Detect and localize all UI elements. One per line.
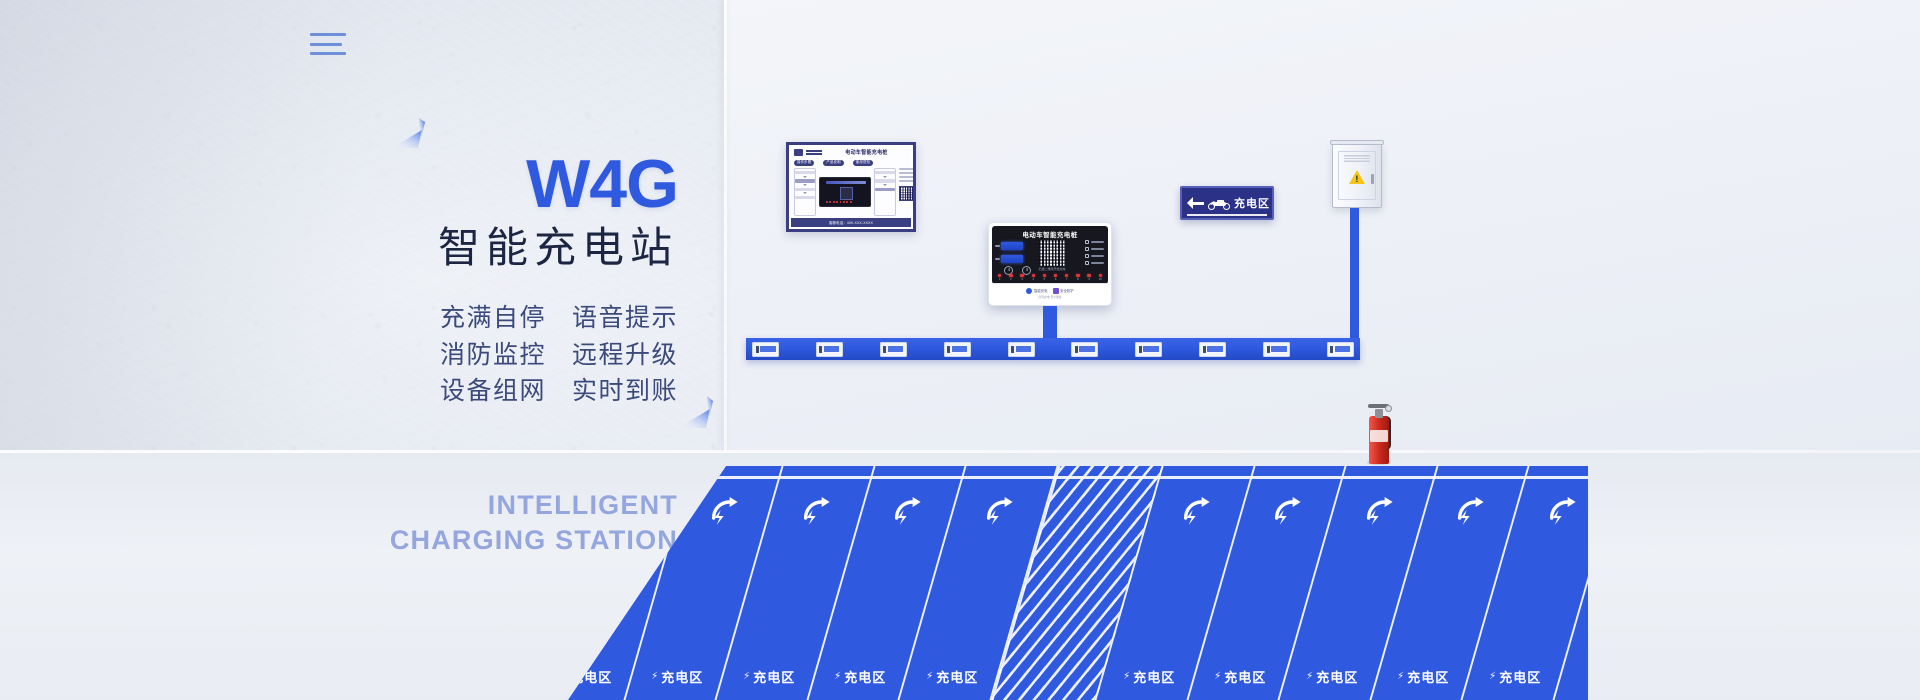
parking-bay-text: 充电区 — [1498, 667, 1540, 686]
page-subtitle: 智能充电站 — [300, 224, 678, 271]
extinguisher-neck — [1375, 409, 1383, 418]
wall-corner-seam — [724, 0, 727, 452]
wall-socket[interactable] — [1199, 342, 1226, 357]
port-indicator: 7 — [1065, 274, 1068, 281]
page-title: W4G — [300, 150, 678, 218]
parking-bay-text: 充电区 — [1224, 667, 1266, 686]
charging-plug-icon — [891, 496, 925, 526]
lightning-bolt-icon: ⚡ — [560, 671, 568, 682]
port-number: 8 — [1077, 278, 1078, 281]
feature-item: 远程升级 — [572, 338, 678, 373]
pile-feature-text — [1091, 248, 1104, 250]
pile-feature-text — [1091, 255, 1104, 257]
scooter-icon — [1208, 197, 1230, 210]
parking-bay-label: ⚡充电区 — [834, 667, 886, 686]
parking-bay-text: 充电区 — [1315, 667, 1357, 686]
wall-socket[interactable] — [816, 342, 843, 357]
poster-logo-icon — [794, 149, 803, 156]
port-indicator: 8 — [1076, 274, 1079, 281]
chevron-down-icon — [883, 176, 887, 178]
feature-row: 设备组网 实时到账 — [440, 374, 678, 409]
poster-step — [795, 188, 815, 191]
pressure-gauge-icon — [1385, 405, 1392, 412]
pile-footer-note: 扫码充电 安全便捷 — [1038, 295, 1061, 299]
led — [1065, 274, 1068, 277]
brand-dot-icon — [1026, 288, 1032, 294]
parking-lot: ⚡充电区⚡充电区⚡充电区⚡充电区⚡充电区⚡充电区⚡充电区⚡充电区⚡充电区⚡充电区 — [0, 452, 1920, 700]
sign-label: 充电区 — [1234, 195, 1270, 211]
led — [998, 274, 1001, 277]
pile-front-panel: 电动车智能充电桩 扫描二维码开始充电 1 2 3 4 5 — [992, 226, 1108, 284]
port-number: 2 — [1010, 278, 1011, 281]
wall-socket[interactable] — [1008, 342, 1035, 357]
feature-item: 实时到账 — [572, 374, 678, 409]
socket-face — [1335, 346, 1351, 352]
parking-bay-text: 充电区 — [661, 667, 703, 686]
pile-brand-row: 智能充电 安全防护 — [1026, 288, 1073, 294]
parking-bay-label: ⚡充电区 — [560, 667, 612, 686]
parking-bay-label: ⚡充电区 — [651, 667, 703, 686]
poster-body — [791, 166, 911, 218]
left-arrow-icon — [1187, 197, 1204, 209]
phone-icon — [1085, 254, 1089, 258]
parking-bay-text: 充电区 — [844, 667, 886, 686]
brand-square-icon — [1053, 288, 1059, 294]
charging-plug-icon — [982, 496, 1016, 526]
charging-plug-icon — [1453, 496, 1487, 526]
lightning-bolt-icon: ⚡ — [926, 671, 934, 682]
parking-bay-label: ⚡充电区 — [1214, 667, 1266, 686]
socket-face — [888, 346, 904, 352]
socket-pin — [756, 346, 759, 353]
pile-display-label — [995, 245, 1000, 247]
sign-underline — [1187, 214, 1267, 216]
socket-pin — [1075, 346, 1078, 353]
socket-pin — [883, 346, 886, 353]
poster-footer-text: 客服电话：400-XXX-XXXX — [829, 220, 873, 225]
qr-code-icon — [899, 186, 914, 201]
poster-inner: 电动车智能充电桩 操作步骤 产品说明 使用须知 — [791, 147, 911, 227]
lightning-bolt-icon: ⚡ — [651, 671, 659, 682]
qr-code-icon[interactable] — [1039, 240, 1065, 266]
poster-header: 电动车智能充电桩 — [791, 147, 911, 158]
port-indicator: 5 — [1043, 274, 1046, 281]
led — [1087, 274, 1090, 277]
parking-bay-text: 充电区 — [1407, 667, 1449, 686]
lightning-bolt-icon: ⚡ — [743, 671, 751, 682]
socket-pin — [1011, 346, 1014, 353]
port-number: 9 — [1088, 278, 1089, 281]
charging-plug-icon — [616, 496, 650, 526]
pile-brand-secondary: 安全防护 — [1053, 288, 1074, 294]
parking-bay-text: 充电区 — [753, 667, 795, 686]
hamburger-bar-3 — [310, 52, 346, 55]
poster-text-line — [899, 180, 916, 182]
poster-brand-mark — [806, 150, 822, 155]
promo-banner: W4G 智能充电站 充满自停 语音提示 消防监控 远程升级 设备组网 实时到账 … — [0, 0, 1920, 700]
chevron-down-icon — [803, 184, 807, 186]
direction-sign: 充电区 — [1180, 186, 1274, 220]
parking-bay-label: ⚡充电区 — [743, 667, 795, 686]
lightning-bolt-icon: ⚡ — [1305, 671, 1313, 682]
poster-note — [875, 179, 895, 182]
poster-footer: 客服电话：400-XXX-XXXX — [791, 218, 911, 227]
high-voltage-warning-icon — [1349, 170, 1365, 184]
charging-plug-icon — [799, 496, 833, 526]
pile-feature-icon-row — [1085, 254, 1104, 258]
port-indicator: 3 — [1020, 274, 1023, 281]
poster-notes-column — [874, 168, 896, 216]
wall-poster: 电动车智能充电桩 操作步骤 产品说明 使用须知 — [786, 142, 916, 232]
socket-face — [1143, 346, 1159, 352]
port-indicator: 6 — [1054, 274, 1057, 281]
port-number: 7 — [1066, 278, 1067, 281]
port-number: 6 — [1055, 278, 1056, 281]
led — [1020, 274, 1023, 277]
hamburger-bar-2 — [310, 43, 342, 46]
feature-item: 语音提示 — [572, 301, 678, 336]
socket-face — [1207, 346, 1223, 352]
hero-text-block: W4G 智能充电站 充满自停 语音提示 消防监控 远程升级 设备组网 实时到账 — [300, 150, 720, 409]
port-indicator: 4 — [1032, 274, 1035, 281]
socket-pin — [1139, 346, 1142, 353]
port-number: 3 — [1021, 278, 1022, 281]
cabinet-handle[interactable] — [1371, 174, 1374, 184]
led — [1009, 274, 1012, 277]
pile-feature-text — [1091, 241, 1104, 243]
poster-step — [795, 196, 815, 199]
feature-list: 充满自停 语音提示 消防监控 远程升级 设备组网 实时到账 — [300, 301, 678, 409]
hamburger-menu-icon[interactable] — [310, 33, 346, 55]
feature-row: 充满自停 语音提示 — [440, 301, 678, 336]
feature-item: 消防监控 — [440, 338, 546, 373]
wall-socket[interactable] — [1263, 342, 1290, 357]
wall-socket[interactable] — [1071, 342, 1098, 357]
socket-face — [1016, 346, 1032, 352]
poster-note — [875, 171, 895, 174]
charging-pile-unit: 电动车智能充电桩 扫描二维码开始充电 1 2 3 4 5 — [988, 222, 1112, 306]
socket-face — [952, 346, 968, 352]
charging-plug-icon — [708, 496, 742, 526]
socket-pin — [1203, 346, 1206, 353]
brand-label: 安全防护 — [1060, 288, 1074, 293]
socket-face — [1271, 346, 1287, 352]
port-indicator: 9 — [1087, 274, 1090, 281]
poster-badge-row: 操作步骤 产品说明 使用须知 — [791, 158, 911, 166]
scooter-seat — [1217, 200, 1224, 202]
poster-title: 电动车智能充电桩 — [825, 149, 908, 157]
parking-bay-label: ⚡充电区 — [1305, 667, 1357, 686]
poster-device-screen — [840, 187, 853, 200]
led — [1032, 274, 1035, 277]
poster-qr-row — [899, 186, 916, 201]
port-number: 10 — [1099, 278, 1102, 281]
pile-feature-icon-row — [1085, 240, 1104, 244]
led — [1043, 274, 1046, 277]
parking-bay-label: ⚡充电区 — [1122, 667, 1174, 686]
wall-socket[interactable] — [1327, 342, 1354, 357]
parking-bay-text: 充电区 — [570, 667, 612, 686]
cabinet-top-cap — [1330, 140, 1384, 145]
led — [1054, 274, 1057, 277]
parking-bay-label: ⚡充电区 — [1397, 667, 1449, 686]
led — [840, 201, 842, 203]
chevron-down-icon — [803, 192, 807, 194]
feature-item: 设备组网 — [440, 374, 546, 409]
pile-feature-icon-row — [1085, 261, 1104, 265]
poster-device-illustration — [819, 168, 871, 216]
port-indicator: 10 — [1099, 274, 1102, 281]
socket-face — [760, 346, 776, 352]
pile-display-1 — [1001, 242, 1023, 250]
parking-bay-text: 充电区 — [936, 667, 978, 686]
port-number: 1 — [999, 278, 1000, 281]
socket-pin — [1330, 346, 1333, 353]
brand-label: 智能充电 — [1034, 288, 1048, 293]
pile-footer: 智能充电 安全防护 扫码充电 安全便捷 — [992, 283, 1108, 302]
extinguisher-hose — [1386, 416, 1391, 450]
chevron-down-icon — [803, 176, 807, 178]
lightning-bolt-icon: ⚡ — [1397, 671, 1405, 682]
charging-plug-icon — [1545, 496, 1579, 526]
socket-pin — [819, 346, 822, 353]
charging-plug-icon — [1270, 496, 1304, 526]
feature-item: 充满自停 — [440, 301, 546, 336]
wall-socket-rail — [746, 338, 1360, 360]
socket-pin — [947, 346, 950, 353]
poster-text-line — [899, 168, 916, 170]
led — [836, 201, 838, 203]
led — [826, 201, 828, 203]
poster-steps-column — [794, 168, 816, 216]
port-indicator: 1 — [998, 274, 1001, 281]
feature-row: 消防监控 远程升级 — [440, 338, 678, 373]
pile-display-2 — [1001, 255, 1023, 263]
led — [833, 201, 835, 203]
pile-title: 电动车智能充电桩 — [992, 229, 1108, 239]
lightning-bolt-icon: ⚡ — [1488, 671, 1496, 682]
parking-bay-label: ⚡充电区 — [1488, 667, 1540, 686]
pile-feature-text — [1091, 262, 1104, 264]
poster-info-column — [899, 168, 916, 216]
poster-text-line — [899, 176, 916, 178]
port-number: 5 — [1044, 278, 1045, 281]
poster-step — [795, 171, 815, 174]
electrical-cabinet — [1332, 143, 1382, 208]
hamburger-bar-1 — [310, 33, 346, 36]
wall-socket[interactable] — [1135, 342, 1162, 357]
led — [1099, 274, 1102, 277]
wall-socket[interactable] — [880, 342, 907, 357]
card-icon — [1085, 247, 1089, 251]
poster-device — [819, 177, 871, 207]
socket-face — [824, 346, 840, 352]
coin-icon — [1085, 240, 1089, 244]
poster-step — [795, 179, 815, 182]
shield-icon — [1085, 261, 1089, 265]
led — [1076, 274, 1079, 277]
led — [846, 201, 848, 203]
pile-port-indicators: 1 2 3 4 5 6 7 8 9 10 — [998, 274, 1102, 281]
pile-feature-icon-row — [1085, 247, 1104, 251]
poster-device-leds — [826, 201, 852, 203]
wall-socket[interactable] — [944, 342, 971, 357]
pile-brand-primary: 智能充电 — [1026, 288, 1047, 294]
poster-text-line — [899, 172, 916, 174]
chevron-down-icon — [883, 184, 887, 186]
socket-pin — [1267, 346, 1270, 353]
port-indicator: 2 — [1009, 274, 1012, 281]
led — [843, 201, 845, 203]
led — [829, 201, 831, 203]
lightning-bolt-icon: ⚡ — [1214, 671, 1222, 682]
lightning-bolt-icon: ⚡ — [1122, 671, 1130, 682]
lightning-bolt-icon: ⚡ — [834, 671, 842, 682]
charging-plug-icon — [1179, 496, 1213, 526]
poster-note — [875, 188, 895, 191]
socket-face — [1079, 346, 1095, 352]
led — [850, 201, 852, 203]
pile-icon-list — [1085, 240, 1104, 265]
pile-qr-caption: 扫描二维码开始充电 — [1037, 267, 1067, 271]
charging-plug-icon — [1362, 496, 1396, 526]
port-number: 4 — [1032, 278, 1033, 281]
parking-bay-text: 充电区 — [1133, 667, 1175, 686]
power-conduit-vertical — [1350, 208, 1359, 346]
pile-display-label — [995, 258, 1000, 260]
parking-bay-group: ⚡充电区⚡充电区⚡充电区⚡充电区⚡充电区⚡充电区⚡充电区⚡充电区⚡充电区⚡充电区 — [568, 466, 1588, 700]
parking-bay-label: ⚡充电区 — [926, 667, 978, 686]
wall-socket[interactable] — [752, 342, 779, 357]
